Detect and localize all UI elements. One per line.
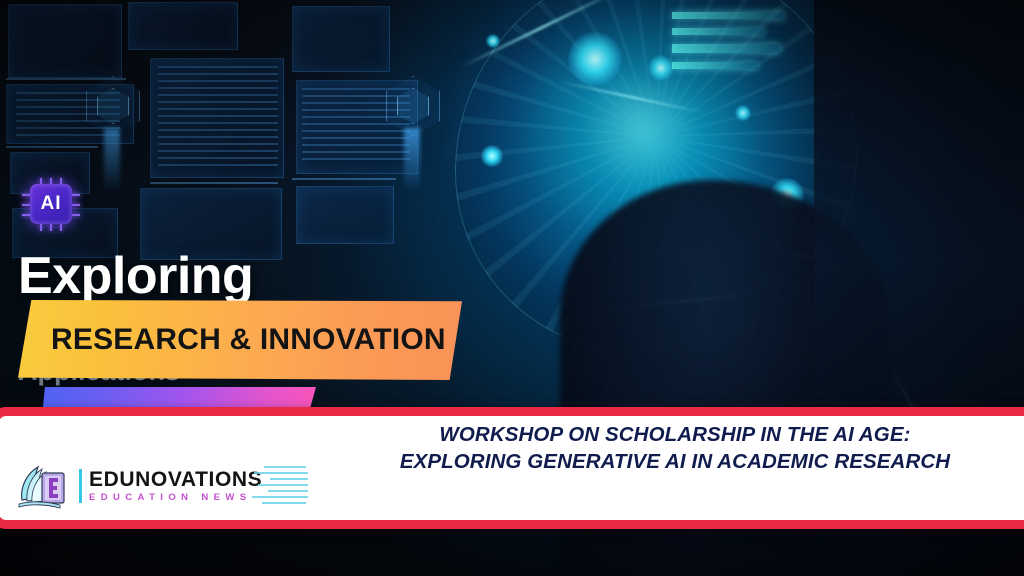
speed-lines-icon (250, 464, 330, 508)
logo-divider (79, 469, 82, 503)
news-thumbnail-card: AI Exploring Applications RESEARCH & INN… (0, 0, 1024, 576)
article-title-line-1: WORKSHOP ON SCHOLARSHIP IN THE AI AGE: (439, 423, 910, 446)
background-headline-text: Exploring (18, 246, 253, 306)
article-title-line-2: EXPLORING GENERATIVE AI IN ACADEMIC RESE… (330, 448, 1020, 475)
ai-chip-label: AI (30, 184, 72, 224)
edunovations-feather-book-icon (16, 460, 78, 512)
category-banner[interactable]: RESEARCH & INNOVATION (18, 300, 462, 380)
category-banner-label: RESEARCH & INNOVATION (51, 323, 446, 357)
article-title: WORKSHOP ON SCHOLARSHIP IN THE AI AGE: E… (330, 421, 1020, 475)
ai-chip-icon: AI (22, 178, 80, 232)
